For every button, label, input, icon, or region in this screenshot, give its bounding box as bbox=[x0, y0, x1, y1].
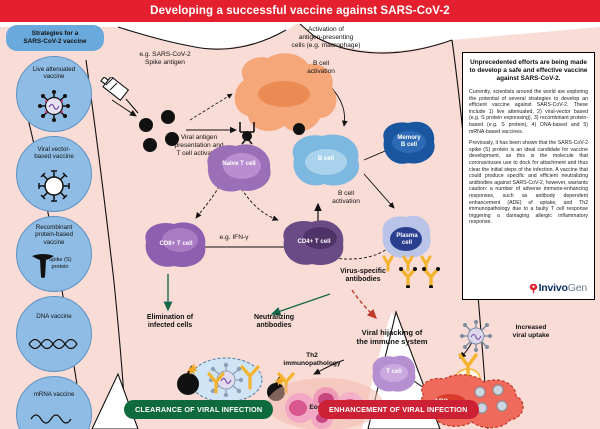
b-cell-antigen-dot bbox=[292, 122, 306, 136]
invivogen-mark-icon bbox=[529, 283, 538, 294]
info-panel-heading: Unprecedented efforts are being made to … bbox=[469, 59, 588, 83]
elimination-label: Elimination of infected cells bbox=[128, 314, 212, 331]
infographic-page: Developing a successful vaccine against … bbox=[0, 0, 600, 429]
invivogen-logo-text-2: Gen bbox=[568, 282, 587, 294]
neutralizing-antibodies-label: Neutralizing antibodies bbox=[236, 314, 312, 331]
info-panel: Unprecedented efforts are being made to … bbox=[462, 52, 595, 300]
info-panel-paragraph-1: Currently, scientists around the world a… bbox=[469, 89, 588, 135]
b-cell bbox=[286, 130, 366, 192]
ifn-gamma-label: e.g. IFN-γ bbox=[208, 234, 260, 242]
increased-uptake-label: Increased viral uptake bbox=[500, 324, 562, 340]
page-title: Developing a successful vaccine against … bbox=[150, 5, 450, 17]
eosinophil-cluster bbox=[262, 368, 388, 429]
virus-specific-antibodies-label: Virus-specific antibodies bbox=[326, 268, 400, 285]
memory-b-cell bbox=[378, 118, 440, 170]
cd8-t-cell bbox=[140, 218, 212, 272]
viral-hijacking-label: Viral hijacking of the immune system bbox=[340, 328, 444, 346]
page-header: Developing a successful vaccine against … bbox=[0, 0, 600, 22]
info-panel-paragraph-2: Previously, it has been shown that the S… bbox=[469, 140, 588, 226]
invivogen-logo: Invivo Gen bbox=[529, 282, 587, 294]
diagram-stage: Strategies for a SARS-CoV-2 vaccine Live… bbox=[0, 22, 600, 429]
clearance-banner-label: CLEARANCE OF VIRAL INFECTION bbox=[135, 405, 262, 414]
b-cell-activation-label-top: B cell activation bbox=[296, 60, 346, 76]
enhancement-banner: ENHANCEMENT OF VIRAL INFECTION bbox=[318, 400, 479, 419]
th2-immunopathology-label: Th2 immunopathology bbox=[276, 352, 348, 368]
apc-activation-label: Activation of antigen-presenting cells (… bbox=[272, 26, 380, 50]
cd4-t-cell bbox=[278, 216, 350, 270]
antibody-icons bbox=[398, 266, 444, 288]
b-cell-activation-label-mid: B cell activation bbox=[320, 190, 372, 206]
naive-t-cell bbox=[200, 140, 278, 196]
virus-uptake-icon bbox=[456, 316, 496, 356]
enhancement-banner-label: ENHANCEMENT OF VIRAL INFECTION bbox=[329, 405, 468, 414]
clearance-banner: CLEARANCE OF VIRAL INFECTION bbox=[124, 400, 273, 419]
invivogen-logo-text-1: Invivo bbox=[539, 282, 568, 294]
